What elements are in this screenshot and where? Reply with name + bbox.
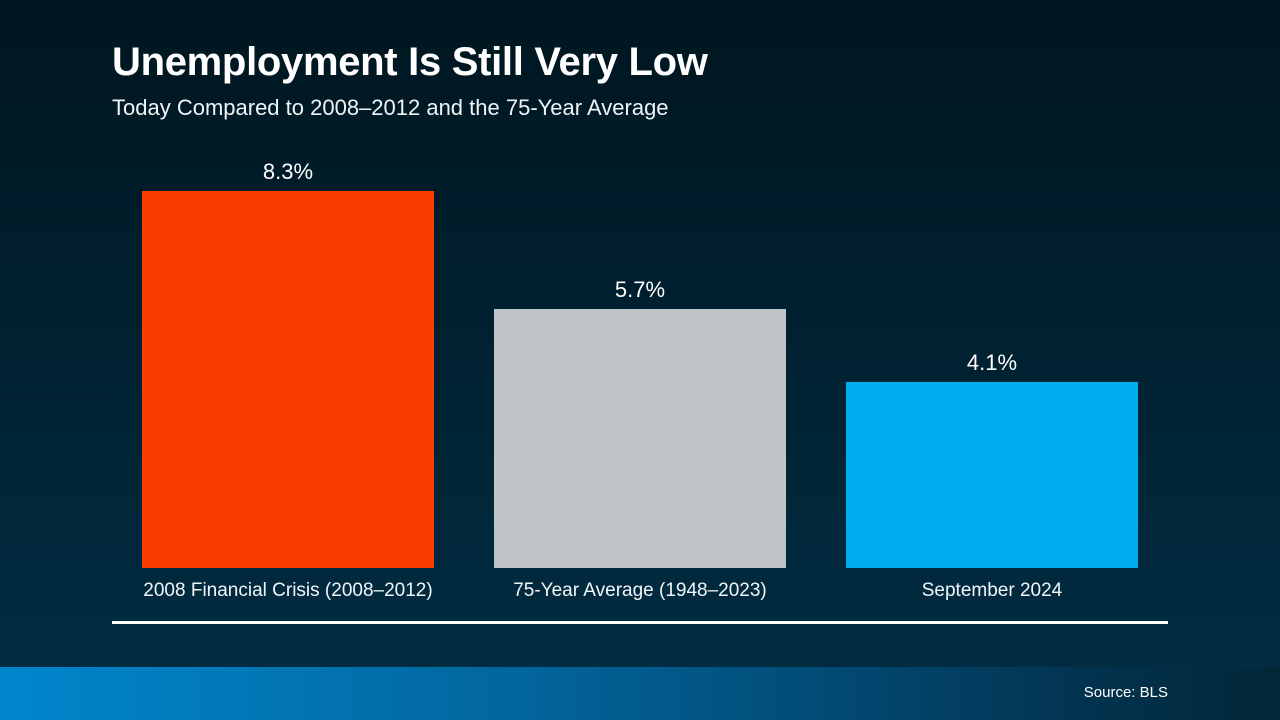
bar-category-label: 2008 Financial Crisis (2008–2012) (112, 580, 464, 602)
bar-chart-plot-area: 8.3% 2008 Financial Crisis (2008–2012) 5… (0, 0, 1280, 667)
source-attribution: Source: BLS (1084, 684, 1168, 701)
x-axis-baseline (112, 621, 1168, 624)
bar-group-september-2024: 4.1% September 2024 (846, 382, 1138, 568)
slide-canvas: Unemployment Is Still Very Low Today Com… (0, 0, 1280, 720)
bar-2008-financial-crisis[interactable] (142, 191, 434, 568)
bar-75-year-average[interactable] (494, 309, 786, 568)
bar-category-label: 75-Year Average (1948–2023) (464, 580, 816, 602)
bar-value-label: 4.1% (846, 350, 1138, 376)
footer-bar: Source: BLS (0, 667, 1280, 720)
bar-value-label: 5.7% (494, 277, 786, 303)
bar-group-2008-financial-crisis: 8.3% 2008 Financial Crisis (2008–2012) (142, 191, 434, 568)
bar-category-label: September 2024 (816, 580, 1168, 602)
bar-value-label: 8.3% (142, 159, 434, 185)
bar-september-2024[interactable] (846, 382, 1138, 568)
bar-group-75-year-average: 5.7% 75-Year Average (1948–2023) (494, 309, 786, 568)
